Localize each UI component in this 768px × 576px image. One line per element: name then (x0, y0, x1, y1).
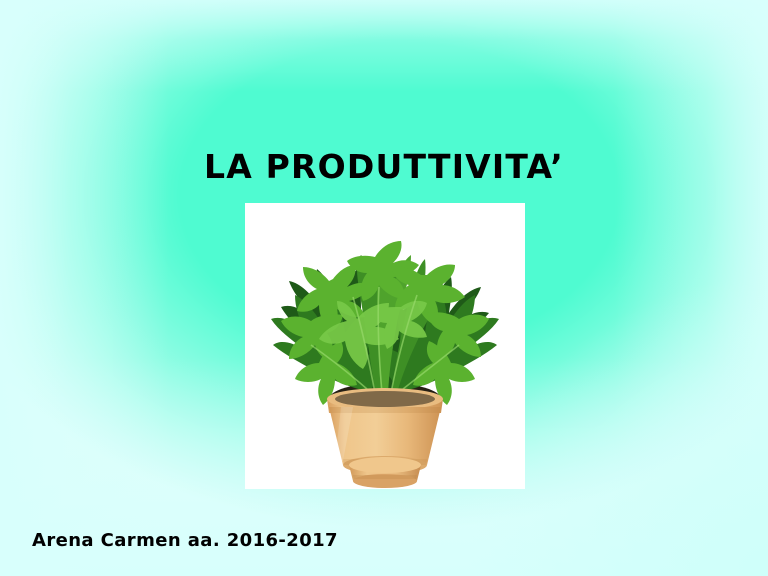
author-credit: Arena Carmen aa. 2016-2017 (32, 530, 338, 551)
plant-photo (245, 203, 525, 489)
plant-illustration (245, 203, 525, 489)
presentation-slide: LA PRODUTTIVITA’ (0, 0, 768, 576)
slide-title: LA PRODUTTIVITA’ (0, 148, 768, 187)
